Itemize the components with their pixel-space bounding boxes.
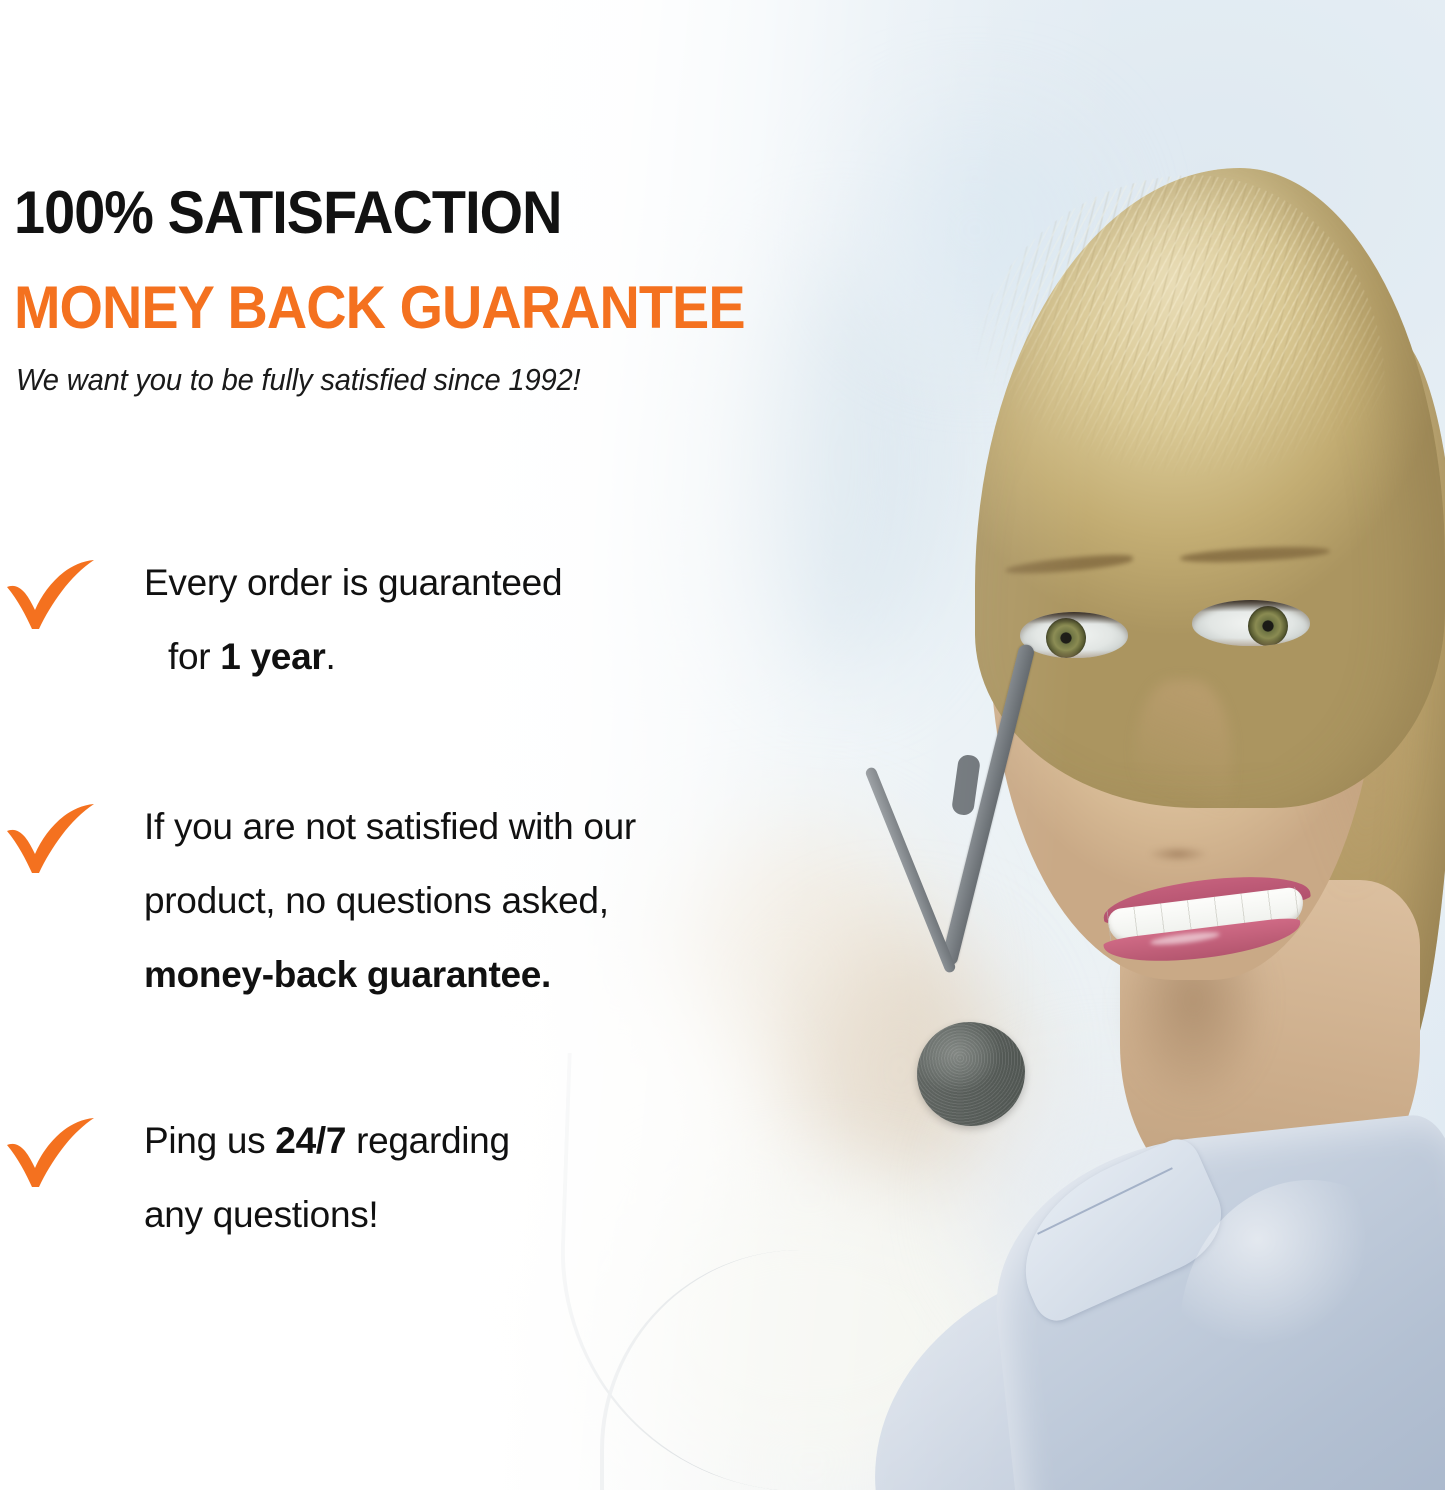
list-item: If you are not satisfied with ourproduct… [0, 790, 1000, 1012]
bullet-3-line-1-post: regarding [346, 1120, 510, 1161]
bullet-2-line-1: If you are not satisfied with our [144, 806, 636, 847]
bullet-1-line-2-bold: 1 year [220, 636, 325, 677]
benefit-list: Every order is guaranteed for 1 year. If… [0, 546, 1000, 1252]
orange-check-icon [4, 560, 100, 630]
subheadline: We want you to be fully satisfied since … [16, 362, 580, 398]
list-item-text: Every order is guaranteed for 1 year. [144, 546, 562, 694]
orange-check-icon [4, 1118, 100, 1188]
bullet-3-line-1-pre: Ping us [144, 1120, 275, 1161]
list-item-text: Ping us 24/7 regardingany questions! [144, 1104, 510, 1252]
list-item: Every order is guaranteed for 1 year. [0, 546, 1000, 694]
list-item: Ping us 24/7 regardingany questions! [0, 1104, 1000, 1252]
orange-check-icon [4, 804, 100, 874]
headline-line-2: MONEY BACK GUARANTEE [14, 278, 745, 338]
headline-line-1: 100% SATISFACTION [14, 183, 561, 243]
list-item-text: If you are not satisfied with ourproduct… [144, 790, 636, 1012]
text-column: 100% SATISFACTION MONEY BACK GUARANTEE W… [0, 0, 1000, 1490]
bullet-2-line-2: product, no questions asked, [144, 880, 609, 921]
bullet-3-line-1-bold: 24/7 [275, 1120, 346, 1161]
promo-banner: 100% SATISFACTION MONEY BACK GUARANTEE W… [0, 0, 1445, 1490]
bullet-1-line-2-pre: for [158, 636, 220, 677]
bullet-3-line-2: any questions! [144, 1194, 378, 1235]
bullet-1-line-1: Every order is guaranteed [144, 562, 562, 603]
bullet-1-line-2-post: . [325, 636, 335, 677]
bullet-2-line-3-bold: money-back guarantee. [144, 954, 551, 995]
